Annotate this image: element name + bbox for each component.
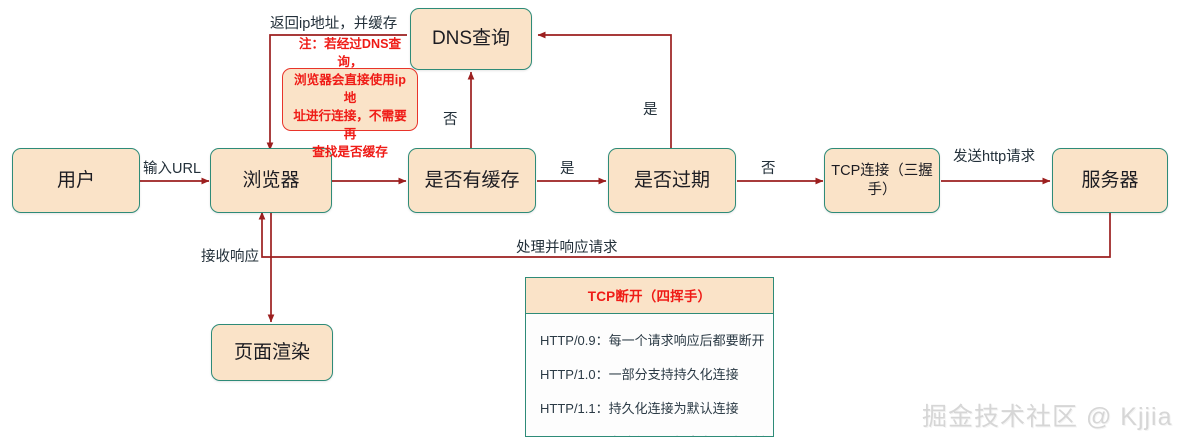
dns-note-line-1: 注：若经过DNS查询， bbox=[288, 36, 412, 72]
info-line-http09: HTTP/0.9：每一个请求响应后都要断开 bbox=[540, 323, 759, 357]
info-line-http10: HTTP/1.0：一部分支持持久化连接 bbox=[540, 357, 759, 391]
node-tcp-connect[interactable]: TCP连接（三握手） bbox=[824, 148, 940, 213]
edge-label-return-ip: 返回ip地址，并缓存 bbox=[270, 12, 397, 33]
node-is-expired[interactable]: 是否过期 bbox=[608, 148, 736, 213]
edge-server-to-browser bbox=[262, 212, 1110, 257]
dns-note-line-4: 查找是否缓存 bbox=[288, 144, 412, 162]
node-has-cache-label: 是否有缓存 bbox=[424, 169, 519, 193]
edge-label-cache-yes: 是 bbox=[560, 157, 575, 178]
node-page-render[interactable]: 页面渲染 bbox=[211, 324, 333, 381]
edge-expired-yes-to-dns bbox=[538, 35, 671, 152]
node-user[interactable]: 用户 bbox=[12, 148, 140, 213]
tcp-disconnect-panel-body: HTTP/0.9：每一个请求响应后都要断开 HTTP/1.0：一部分支持持久化连… bbox=[526, 314, 773, 437]
node-page-render-label: 页面渲染 bbox=[234, 341, 310, 365]
flowchart-canvas: 用户 浏览器 是否有缓存 是否过期 DNS查询 TCP连接（三握手） 服务器 页… bbox=[0, 0, 1177, 442]
node-dns-query[interactable]: DNS查询 bbox=[410, 8, 532, 70]
edge-label-expired-no: 否 bbox=[761, 157, 776, 178]
edge-label-receive-response: 接收响应 bbox=[201, 245, 259, 266]
node-server[interactable]: 服务器 bbox=[1052, 148, 1168, 213]
edge-label-input-url: 输入URL bbox=[143, 157, 201, 178]
node-server-label: 服务器 bbox=[1081, 169, 1138, 193]
node-is-expired-label: 是否过期 bbox=[634, 169, 710, 193]
info-line-http11: HTTP/1.1：持久化连接为默认连接 bbox=[540, 391, 759, 425]
edge-label-handle-response: 处理并响应请求 bbox=[516, 236, 618, 257]
edge-label-cache-no: 否 bbox=[443, 108, 458, 129]
node-browser-label: 浏览器 bbox=[242, 169, 299, 193]
node-user-label: 用户 bbox=[57, 169, 95, 193]
tcp-disconnect-panel-header: TCP断开（四挥手） bbox=[526, 278, 773, 314]
info-line-http20: HTTP/2.0：多路复用，超出空闲时间断开 bbox=[540, 425, 759, 437]
node-dns-query-label: DNS查询 bbox=[432, 27, 510, 51]
node-tcp-connect-label: TCP连接（三握手） bbox=[831, 162, 933, 198]
dns-note-line-2: 浏览器会直接使用ip地 bbox=[288, 72, 412, 108]
tcp-disconnect-panel: TCP断开（四挥手） HTTP/0.9：每一个请求响应后都要断开 HTTP/1.… bbox=[525, 277, 774, 437]
node-has-cache[interactable]: 是否有缓存 bbox=[408, 148, 536, 213]
edge-label-expired-yes: 是 bbox=[643, 98, 658, 119]
dns-note-line-3: 址进行连接，不需要再 bbox=[288, 108, 412, 144]
edge-label-send-http: 发送http请求 bbox=[953, 145, 1035, 166]
dns-note-box: 注：若经过DNS查询， 浏览器会直接使用ip地 址进行连接，不需要再 查找是否缓… bbox=[282, 68, 418, 131]
watermark: 掘金技术社区 @ Kjjia bbox=[922, 397, 1173, 433]
